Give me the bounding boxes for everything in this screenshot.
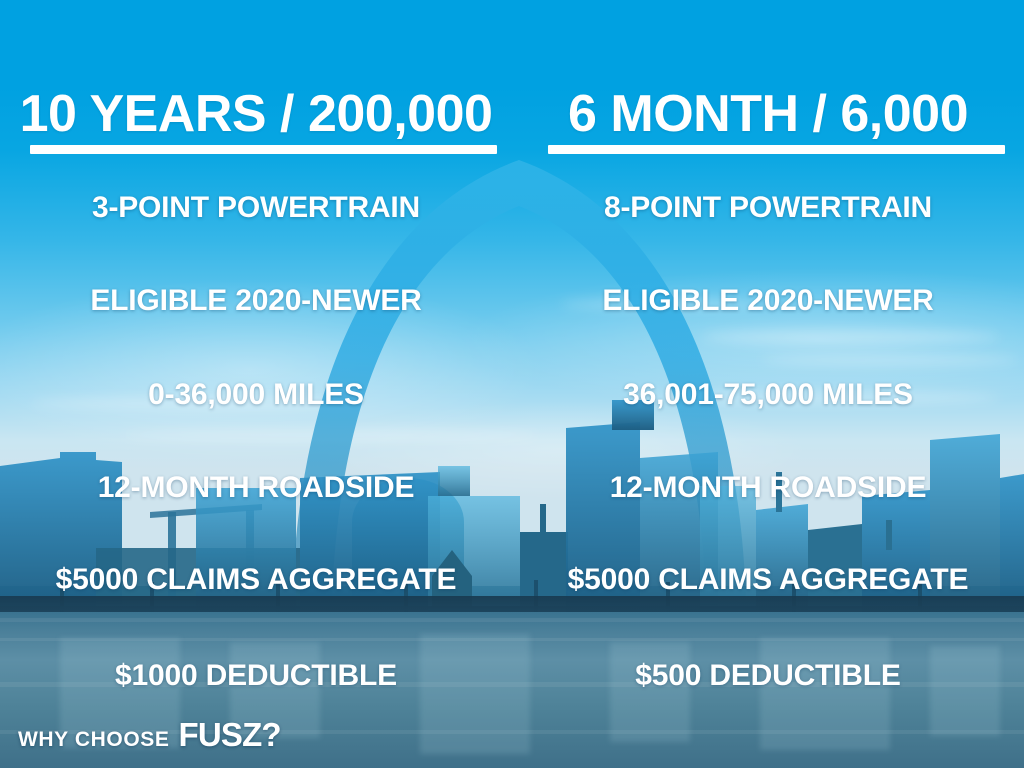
plan-item: 36,001-75,000 MILES — [512, 380, 1024, 410]
brand-logo-prefix: WHY CHOOSE — [18, 728, 169, 752]
plan-column-left: 10 YEARS / 200,000 3-POINT POWERTRAIN EL… — [0, 0, 512, 768]
plan-item: 12-MONTH ROADSIDE — [0, 473, 512, 503]
slide-content: 10 YEARS / 200,000 3-POINT POWERTRAIN EL… — [0, 0, 1024, 768]
plan-item: 12-MONTH ROADSIDE — [512, 473, 1024, 503]
plan-item: $500 DEDUCTIBLE — [512, 661, 1024, 691]
plan-item: 3-POINT POWERTRAIN — [0, 193, 512, 223]
plan-heading-underline-left — [30, 145, 497, 154]
slide-canvas: 10 YEARS / 200,000 3-POINT POWERTRAIN EL… — [0, 0, 1024, 768]
plan-heading-left: 10 YEARS / 200,000 — [0, 88, 512, 140]
brand-logo-name: FUSZ? — [178, 716, 280, 754]
plan-item: ELIGIBLE 2020-NEWER — [0, 286, 512, 316]
plan-item: 8-POINT POWERTRAIN — [512, 193, 1024, 223]
brand-logo: WHY CHOOSE FUSZ? — [18, 716, 281, 754]
plan-item: $5000 CLAIMS AGGREGATE — [512, 565, 1024, 595]
plan-heading-underline-right — [548, 145, 1005, 154]
plan-item: ELIGIBLE 2020-NEWER — [512, 286, 1024, 316]
plan-column-right: 6 MONTH / 6,000 8-POINT POWERTRAIN ELIGI… — [512, 0, 1024, 768]
plan-heading-right: 6 MONTH / 6,000 — [512, 88, 1024, 140]
plan-item: $1000 DEDUCTIBLE — [0, 661, 512, 691]
plan-item: 0-36,000 MILES — [0, 380, 512, 410]
plan-item: $5000 CLAIMS AGGREGATE — [0, 565, 512, 595]
